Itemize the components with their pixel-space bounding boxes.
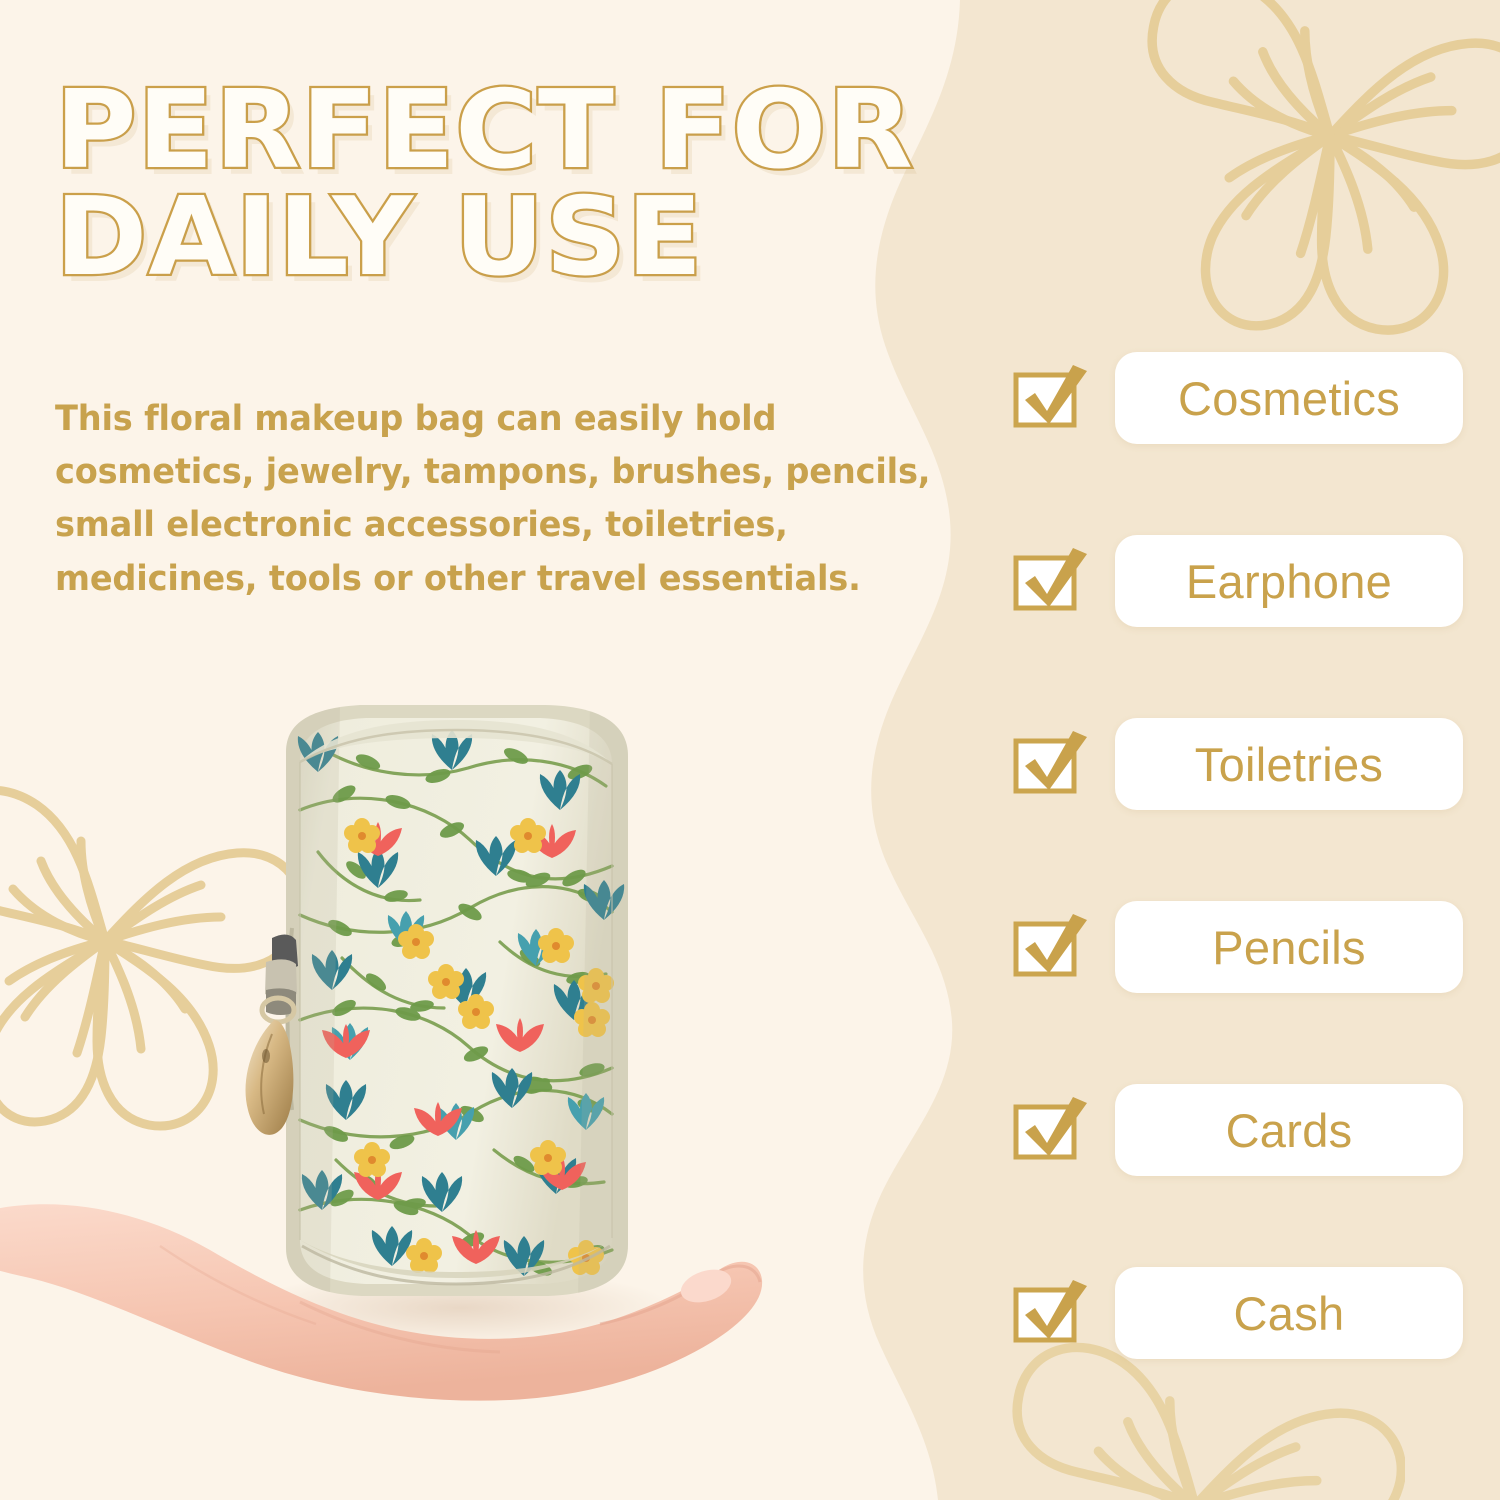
checklist-item-cash[interactable]: Cash (1013, 1267, 1483, 1450)
product-photo-makeup-bag (0, 690, 900, 1500)
feature-checklist: Cosmetics Earphone Toiletries (1013, 352, 1483, 1450)
checklist-item-earphone[interactable]: Earphone (1013, 535, 1483, 718)
checklist-label: Cosmetics (1178, 371, 1400, 426)
checklist-item-cosmetics[interactable]: Cosmetics (1013, 352, 1483, 535)
page-title: PERFECT FOR DAILY USE (55, 78, 1064, 292)
checkbox-checked-icon[interactable] (1013, 909, 1089, 985)
checklist-label: Cash (1234, 1286, 1345, 1341)
checkbox-checked-icon[interactable] (1013, 543, 1089, 619)
checklist-pill[interactable]: Cash (1115, 1267, 1463, 1359)
checklist-label: Earphone (1186, 554, 1392, 609)
checklist-label: Toiletries (1195, 737, 1383, 792)
checklist-item-toiletries[interactable]: Toiletries (1013, 718, 1483, 901)
bag-body (286, 705, 628, 1296)
checklist-label: Cards (1226, 1103, 1353, 1158)
checkbox-checked-icon[interactable] (1013, 360, 1089, 436)
checklist-pill[interactable]: Toiletries (1115, 718, 1463, 810)
checkbox-checked-icon[interactable] (1013, 726, 1089, 802)
checklist-item-cards[interactable]: Cards (1013, 1084, 1483, 1267)
checklist-pill[interactable]: Earphone (1115, 535, 1463, 627)
checklist-pill[interactable]: Pencils (1115, 901, 1463, 993)
checkbox-checked-icon[interactable] (1013, 1275, 1089, 1351)
checklist-item-pencils[interactable]: Pencils (1013, 901, 1483, 1084)
checklist-pill[interactable]: Cosmetics (1115, 352, 1463, 444)
checklist-label: Pencils (1212, 920, 1366, 975)
checkbox-checked-icon[interactable] (1013, 1092, 1089, 1168)
checklist-pill[interactable]: Cards (1115, 1084, 1463, 1176)
product-description: This floral makeup bag can easily hold c… (55, 393, 962, 606)
poster-canvas: PERFECT FOR DAILY USE This floral makeup… (0, 0, 1500, 1500)
